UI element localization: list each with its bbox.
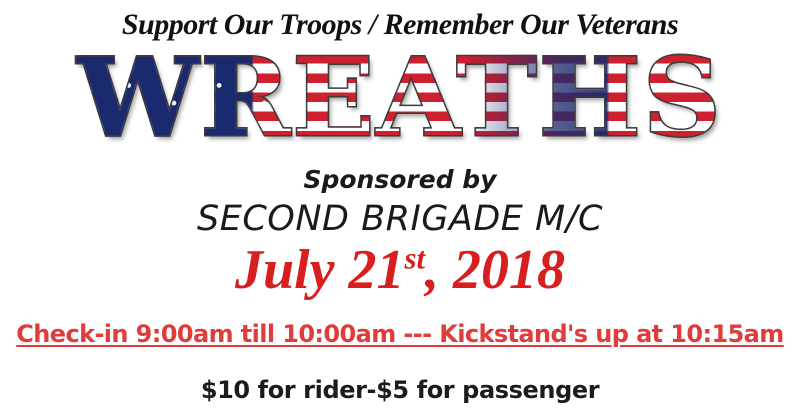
event-date-year: , 2018 <box>425 239 565 301</box>
wordmark-inner: WREATHS WREATHS <box>77 44 723 152</box>
checkin-info: Check-in 9:00am till 10:00am --- Kicksta… <box>0 320 800 348</box>
event-date-ordinal: st <box>405 241 426 275</box>
checkin-info-text: Check-in 9:00am till 10:00am --- Kicksta… <box>16 320 783 348</box>
event-date: July 21st, 2018 <box>0 238 800 302</box>
event-flyer: Support Our Troops / Remember Our Vetera… <box>0 0 800 420</box>
wreaths-wordmark-text: WREATHS <box>77 35 723 161</box>
sponsored-by-label: Sponsored by <box>0 165 800 194</box>
sponsor-name: SECOND BRIGADE M/C <box>0 199 800 239</box>
wreaths-wordmark: WREATHS WREATHS <box>0 44 800 164</box>
price-info: $10 for rider-$5 for passenger <box>0 376 800 404</box>
event-date-monthday: July 21 <box>235 239 405 301</box>
